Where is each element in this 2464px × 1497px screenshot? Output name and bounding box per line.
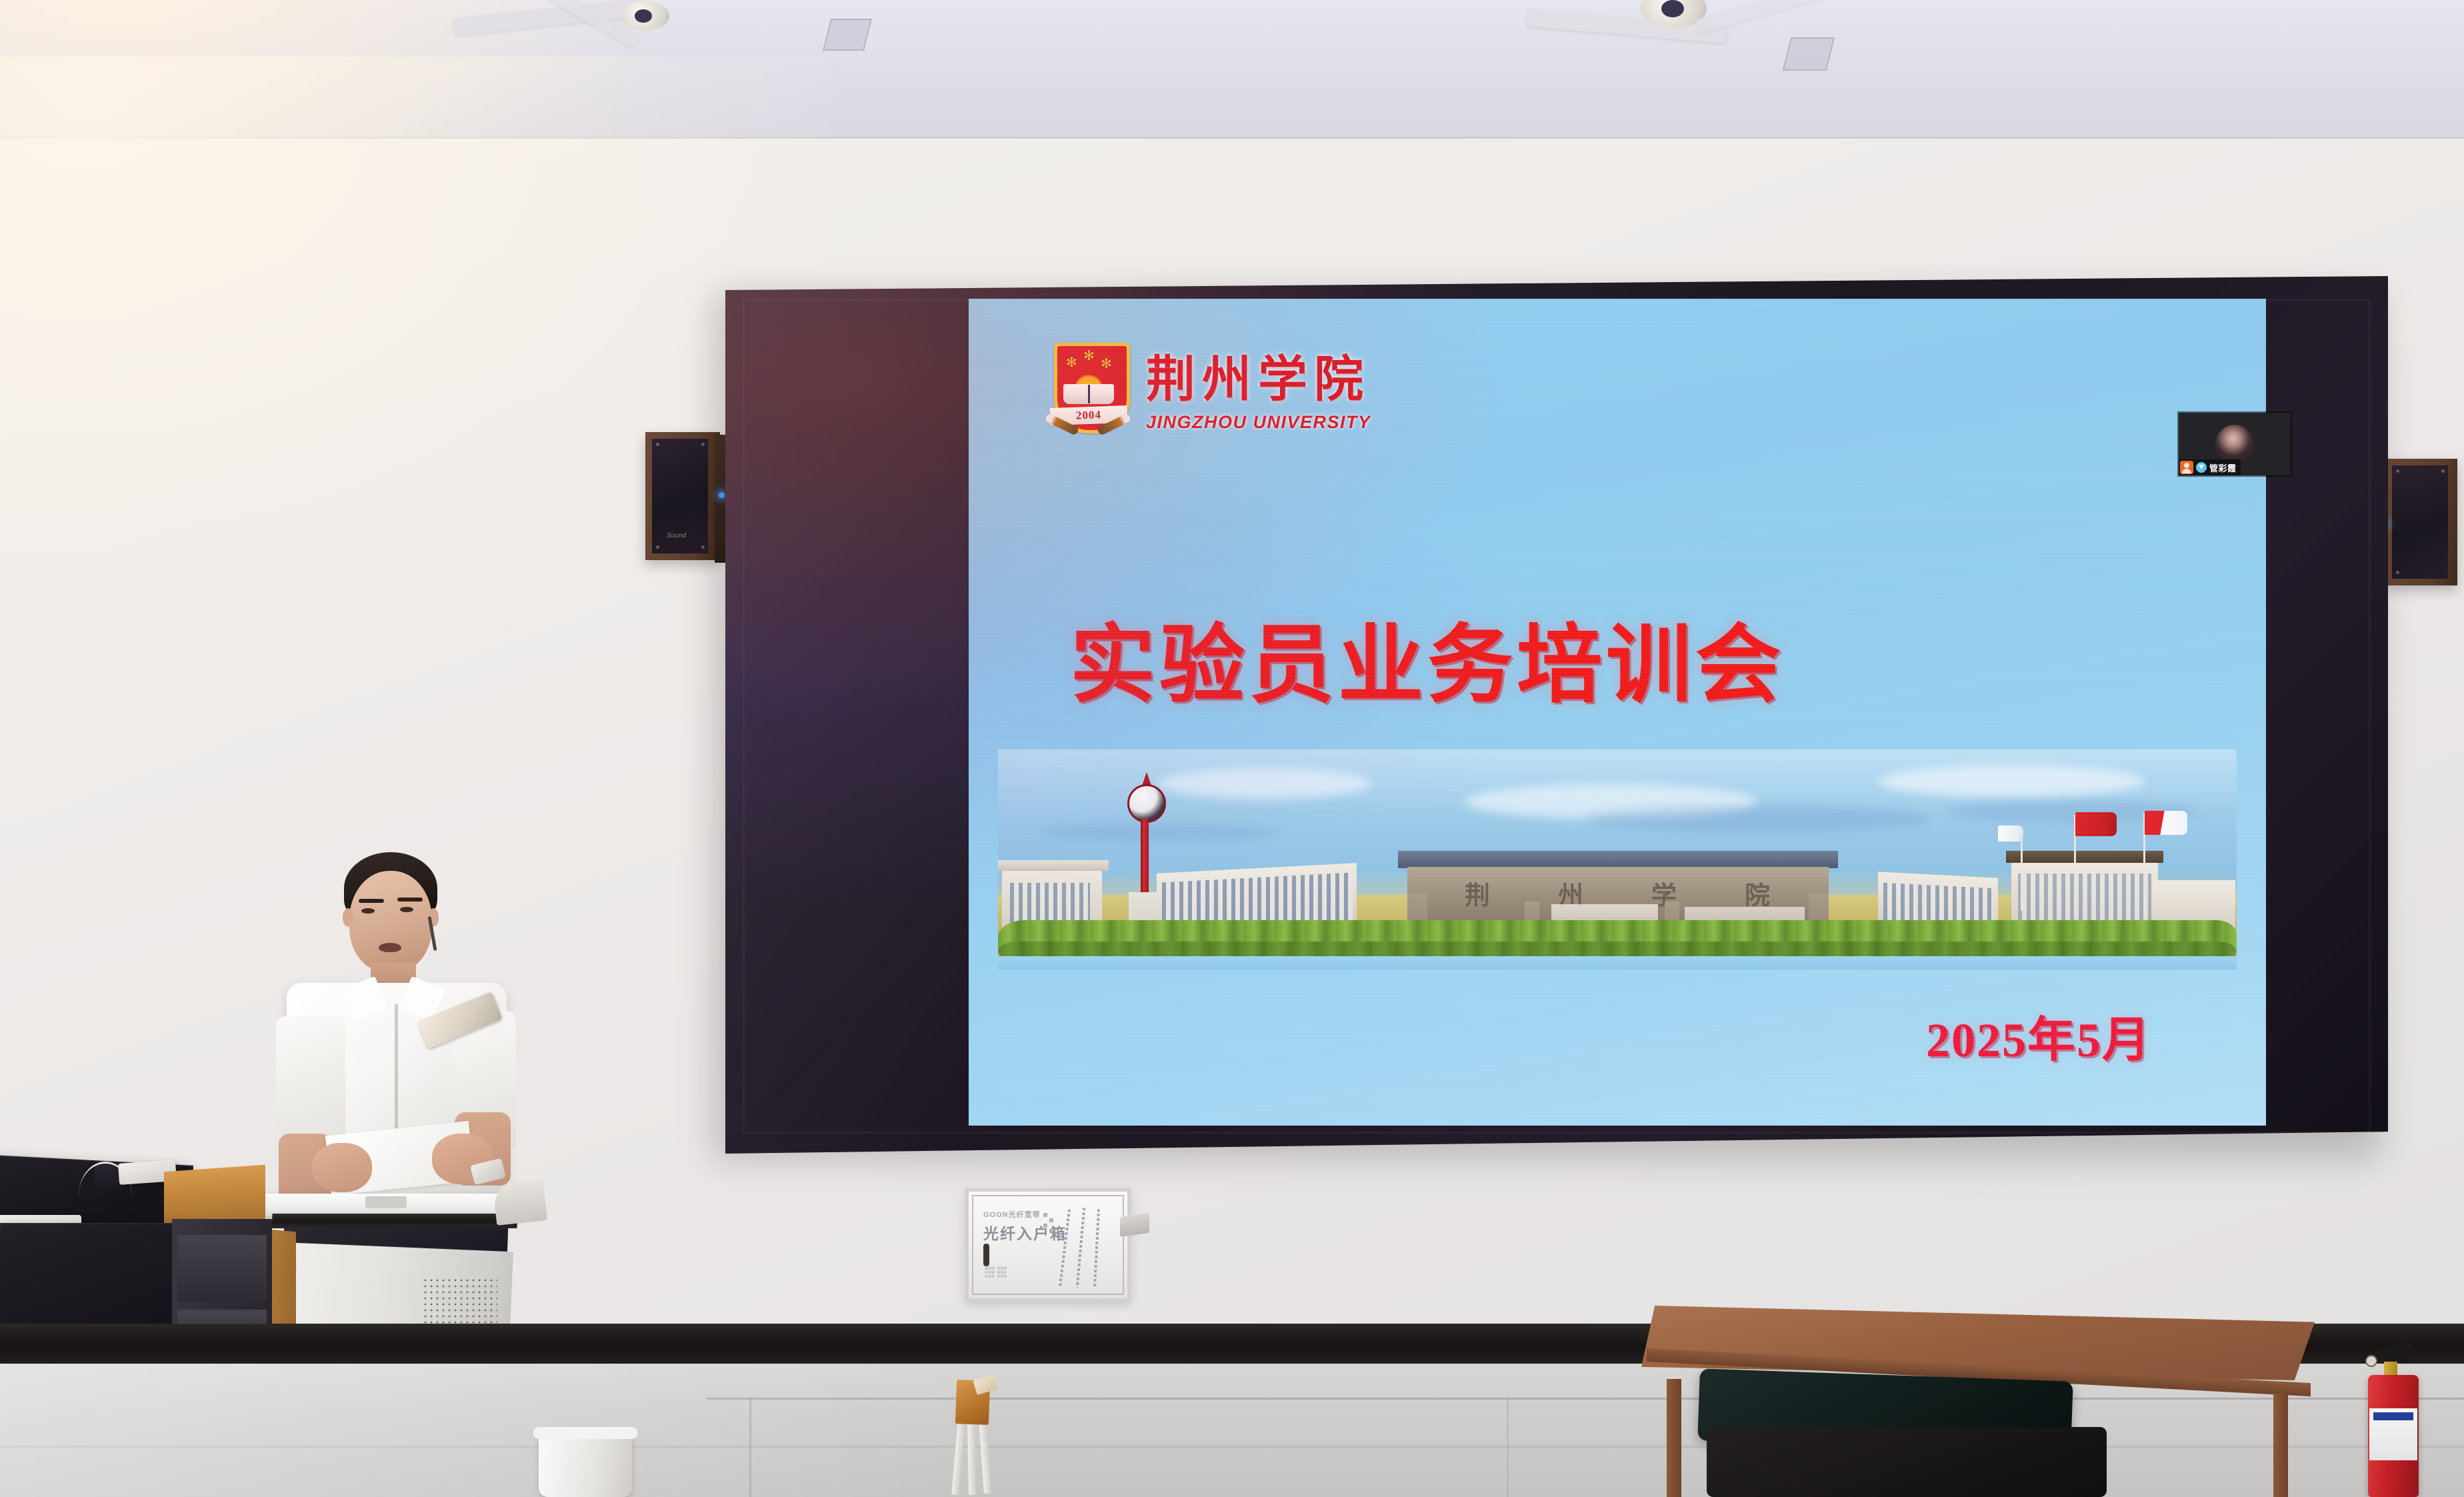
flag-university [2145, 811, 2187, 835]
presentation-slide[interactable]: ✻ ✻ ✻ 2004 荆州学院 JINGZHOU UNIVERSITY [969, 299, 2266, 1126]
led-display[interactable]: ✻ ✻ ✻ 2004 荆州学院 JINGZHOU UNIVERSITY [725, 276, 2388, 1154]
clock-tower-clock [1127, 784, 1166, 823]
ceiling-vent-left [823, 19, 872, 51]
university-name-en: JINGZHOU UNIVERSITY [1146, 411, 1371, 433]
university-name-cn: 荆州学院 [1146, 352, 1371, 408]
flag-national [2075, 812, 2117, 836]
university-crest-icon: ✻ ✻ ✻ 2004 [1049, 343, 1129, 443]
university-logo: ✻ ✻ ✻ 2004 荆州学院 JINGZHOU UNIVERSITY [1049, 343, 1371, 443]
ceiling-vent-right [1783, 37, 1835, 71]
gate-char-4: 院 [1745, 875, 1770, 912]
flagpole-1 [2021, 832, 2023, 911]
lectern-control-button[interactable] [365, 1196, 407, 1208]
fiber-box-brand: GOON光纤宽带 [983, 1209, 1041, 1220]
presenter-left-hand [312, 1143, 372, 1192]
gate-char-1: 荆 [1465, 875, 1490, 912]
console-cabinet-drawer-1[interactable] [177, 1235, 267, 1302]
flag-white-left [1998, 826, 2023, 842]
white-bucket-rim [533, 1427, 637, 1439]
wall-mount-bracket [1120, 1213, 1149, 1237]
fiber-box-handle[interactable] [983, 1244, 989, 1266]
download-arrow-icon [2196, 462, 2207, 473]
campus-gate-roof [1398, 851, 1838, 868]
crest-year-label: 2004 [1076, 408, 1102, 422]
white-bucket [539, 1430, 632, 1497]
participant-name-bar: 管彩霞 [2179, 459, 2241, 475]
participant-avatar [2215, 425, 2254, 463]
fiber-box-label: 光纤入户箱 [983, 1221, 1067, 1244]
console-desk-edge [164, 1165, 265, 1227]
console-cable [79, 1162, 132, 1230]
slide-title: 实验员业务培训会 [1070, 619, 1785, 712]
participant-name: 管彩霞 [2209, 461, 2237, 474]
presenter-head [349, 871, 432, 972]
office-chair-seat[interactable] [1707, 1427, 2107, 1497]
fiber-distribution-box: GOON光纤宽带 光纤入户箱 ▤▤▤ ▤▤▤ ▤▤▤ ▤▤▤ ▤▤▤ ▤▤▤ [965, 1188, 1131, 1302]
clock-tower-tip [1142, 772, 1151, 786]
user-badge-icon [2180, 461, 2193, 474]
slide-date: 2025年5月 [1926, 1014, 2151, 1067]
video-participant-tile[interactable]: 管彩霞 [2179, 413, 2291, 475]
campus-panorama-image: 荆 州 学 院 [998, 750, 2237, 970]
screenshot-root: Sound ✻ ✻ ✻ [0, 0, 2464, 1497]
